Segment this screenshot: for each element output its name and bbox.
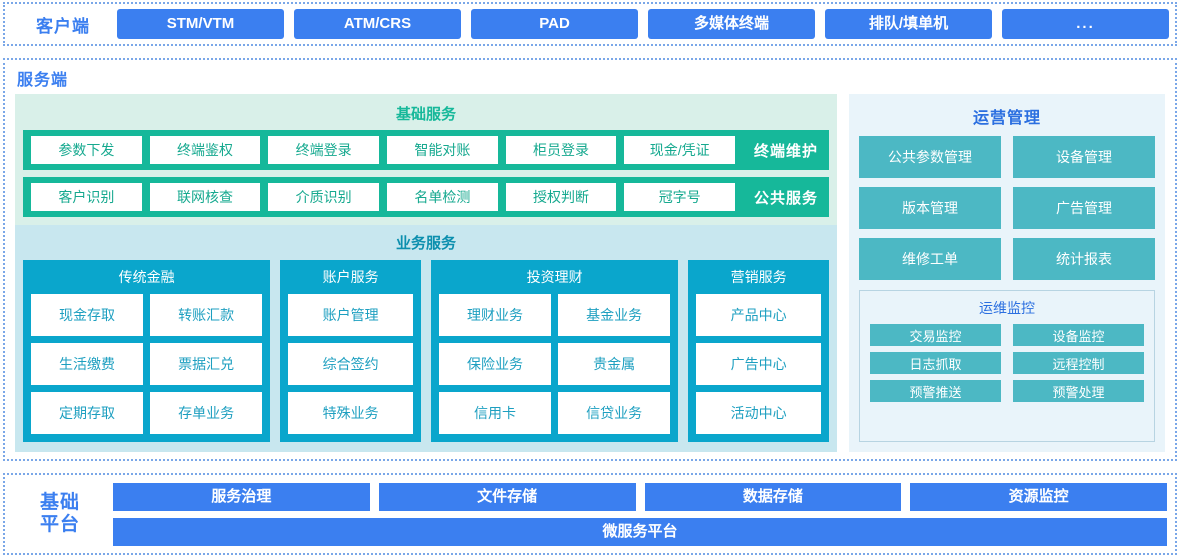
ops-item-advertisement-management[interactable]: 广告管理 (1013, 187, 1155, 229)
client-item-stm-vtm[interactable]: STM/VTM (117, 9, 284, 39)
server-layer-body: 基础服务 参数下发 终端鉴权 终端登录 智能对账 柜员登录 现金/凭证 终端维护… (5, 94, 1175, 460)
operation-monitoring-card: 运维监控 交易监控 设备监控 日志抓取 远程控制 预警推送 预警处理 (859, 290, 1155, 442)
client-item-queue-form-machine[interactable]: 排队/填单机 (825, 9, 992, 39)
monitor-item-transaction-monitoring[interactable]: 交易监控 (870, 324, 1001, 346)
monitor-item-alert-push[interactable]: 预警推送 (870, 380, 1001, 402)
business-item-advertising-center[interactable]: 广告中心 (696, 343, 821, 385)
business-group-grid-marketing: 产品中心 广告中心 活动中心 (696, 294, 821, 434)
business-group-grid-traditional-finance: 现金存取 转账汇款 生活缴费 票据汇兑 定期存取 存单业务 (31, 294, 262, 434)
platform-top-row: 服务治理 文件存储 数据存储 资源监控 (113, 483, 1167, 511)
business-group-grid-account-service: 账户管理 综合签约 特殊业务 (288, 294, 413, 434)
business-group-title-traditional-finance: 传统金融 (31, 265, 262, 294)
platform-title-line2: 平台 (17, 514, 103, 536)
ops-item-public-parameter-management[interactable]: 公共参数管理 (859, 136, 1001, 178)
basic-item-cash-voucher[interactable]: 现金/凭证 (624, 136, 735, 164)
basic-item-online-verification[interactable]: 联网核查 (150, 183, 261, 211)
basic-item-teller-login[interactable]: 柜员登录 (506, 136, 617, 164)
ops-item-version-management[interactable]: 版本管理 (859, 187, 1001, 229)
platform-item-data-storage[interactable]: 数据存储 (645, 483, 902, 511)
basic-services-panel: 基础服务 参数下发 终端鉴权 终端登录 智能对账 柜员登录 现金/凭证 终端维护… (15, 94, 837, 225)
architecture-diagram: 客户端 STM/VTM ATM/CRS PAD 多媒体终端 排队/填单机 ...… (0, 0, 1180, 560)
business-item-bill-exchange[interactable]: 票据汇兑 (150, 343, 262, 385)
business-item-precious-metals[interactable]: 贵金属 (558, 343, 670, 385)
basic-item-smart-reconciliation[interactable]: 智能对账 (387, 136, 498, 164)
basic-item-list-check[interactable]: 名单检测 (387, 183, 498, 211)
client-layer-title: 客户端 (19, 12, 107, 37)
business-group-grid-investment: 理财业务 基金业务 保险业务 贵金属 信用卡 信贷业务 (439, 294, 670, 434)
server-layer-frame: 服务端 基础服务 参数下发 终端鉴权 终端登录 智能对账 柜员登录 现金/凭证 … (3, 58, 1177, 461)
business-group-title-investment: 投资理财 (439, 265, 670, 294)
basic-item-serial-number[interactable]: 冠字号 (624, 183, 735, 211)
platform-item-file-storage[interactable]: 文件存储 (379, 483, 636, 511)
basic-services-row-terminal-maintenance: 参数下发 终端鉴权 终端登录 智能对账 柜员登录 现金/凭证 终端维护 (23, 130, 829, 170)
operations-management-grid: 公共参数管理 设备管理 版本管理 广告管理 维修工单 统计报表 (859, 136, 1155, 280)
business-item-activity-center[interactable]: 活动中心 (696, 392, 821, 434)
business-item-credit-card[interactable]: 信用卡 (439, 392, 551, 434)
business-item-time-deposit[interactable]: 定期存取 (31, 392, 143, 434)
business-group-investment: 投资理财 理财业务 基金业务 保险业务 贵金属 信用卡 信贷业务 (431, 260, 678, 442)
business-services-panel: 业务服务 传统金融 现金存取 转账汇款 生活缴费 票据汇兑 定期存取 存单业务 (15, 225, 837, 452)
business-item-utility-payment[interactable]: 生活缴费 (31, 343, 143, 385)
client-item-atm-crs[interactable]: ATM/CRS (294, 9, 461, 39)
basic-item-terminal-login[interactable]: 终端登录 (268, 136, 379, 164)
platform-items-stack: 服务治理 文件存储 数据存储 资源监控 微服务平台 (113, 483, 1167, 546)
platform-layer-title: 基础 平台 (17, 492, 103, 536)
platform-layer-frame: 基础 平台 服务治理 文件存储 数据存储 资源监控 微服务平台 (3, 473, 1177, 555)
business-services-groups: 传统金融 现金存取 转账汇款 生活缴费 票据汇兑 定期存取 存单业务 (23, 260, 829, 442)
business-group-title-account-service: 账户服务 (288, 265, 413, 294)
monitor-item-log-capture[interactable]: 日志抓取 (870, 352, 1001, 374)
business-item-certificate-deposit[interactable]: 存单业务 (150, 392, 262, 434)
basic-row-label-public-service: 公共服务 (743, 187, 829, 208)
basic-item-media-recognition[interactable]: 介质识别 (268, 183, 379, 211)
basic-item-authorization-judge[interactable]: 授权判断 (506, 183, 617, 211)
business-group-title-marketing: 营销服务 (696, 265, 821, 294)
operations-management-panel: 运营管理 公共参数管理 设备管理 版本管理 广告管理 维修工单 统计报表 运维监… (849, 94, 1165, 452)
monitor-item-alert-handling[interactable]: 预警处理 (1013, 380, 1144, 402)
ops-item-repair-work-order[interactable]: 维修工单 (859, 238, 1001, 280)
business-group-marketing: 营销服务 产品中心 广告中心 活动中心 (688, 260, 829, 442)
basic-services-row-public-service: 客户识别 联网核查 介质识别 名单检测 授权判断 冠字号 公共服务 (23, 177, 829, 217)
business-item-fund-business[interactable]: 基金业务 (558, 294, 670, 336)
client-layer-frame: 客户端 STM/VTM ATM/CRS PAD 多媒体终端 排队/填单机 ... (3, 2, 1177, 46)
business-group-account-service: 账户服务 账户管理 综合签约 特殊业务 (280, 260, 421, 442)
client-item-pad[interactable]: PAD (471, 9, 638, 39)
client-item-more[interactable]: ... (1002, 9, 1169, 39)
monitor-item-device-monitoring[interactable]: 设备监控 (1013, 324, 1144, 346)
basic-item-param-dispatch[interactable]: 参数下发 (31, 136, 142, 164)
business-item-account-management[interactable]: 账户管理 (288, 294, 413, 336)
business-item-credit-loan[interactable]: 信贷业务 (558, 392, 670, 434)
basic-row-label-terminal-maintenance: 终端维护 (743, 140, 829, 161)
business-item-cash-deposit-withdraw[interactable]: 现金存取 (31, 294, 143, 336)
operation-monitoring-grid: 交易监控 设备监控 日志抓取 远程控制 预警推送 预警处理 (870, 324, 1144, 402)
business-item-insurance-business[interactable]: 保险业务 (439, 343, 551, 385)
platform-item-service-governance[interactable]: 服务治理 (113, 483, 370, 511)
server-left-column: 基础服务 参数下发 终端鉴权 终端登录 智能对账 柜员登录 现金/凭证 终端维护… (15, 94, 837, 452)
basic-item-customer-identify[interactable]: 客户识别 (31, 183, 142, 211)
operation-monitoring-title: 运维监控 (870, 295, 1144, 324)
client-layer-row: 客户端 STM/VTM ATM/CRS PAD 多媒体终端 排队/填单机 ... (5, 4, 1175, 44)
client-item-multimedia-terminal[interactable]: 多媒体终端 (648, 9, 815, 39)
platform-item-resource-monitoring[interactable]: 资源监控 (910, 483, 1167, 511)
ops-item-statistical-report[interactable]: 统计报表 (1013, 238, 1155, 280)
business-group-traditional-finance: 传统金融 现金存取 转账汇款 生活缴费 票据汇兑 定期存取 存单业务 (23, 260, 270, 442)
operations-management-title: 运营管理 (859, 100, 1155, 136)
server-layer-title: 服务端 (5, 60, 1175, 94)
basic-item-terminal-auth[interactable]: 终端鉴权 (150, 136, 261, 164)
monitor-item-remote-control[interactable]: 远程控制 (1013, 352, 1144, 374)
basic-services-title: 基础服务 (23, 100, 829, 130)
business-item-special-business[interactable]: 特殊业务 (288, 392, 413, 434)
platform-item-microservice-platform[interactable]: 微服务平台 (113, 518, 1167, 546)
platform-title-line1: 基础 (17, 492, 103, 514)
ops-item-device-management[interactable]: 设备管理 (1013, 136, 1155, 178)
business-item-transfer-remittance[interactable]: 转账汇款 (150, 294, 262, 336)
business-item-product-center[interactable]: 产品中心 (696, 294, 821, 336)
business-item-comprehensive-signing[interactable]: 综合签约 (288, 343, 413, 385)
platform-layer-row: 基础 平台 服务治理 文件存储 数据存储 资源监控 微服务平台 (5, 475, 1175, 553)
business-item-wealth-management[interactable]: 理财业务 (439, 294, 551, 336)
business-services-title: 业务服务 (23, 229, 829, 260)
